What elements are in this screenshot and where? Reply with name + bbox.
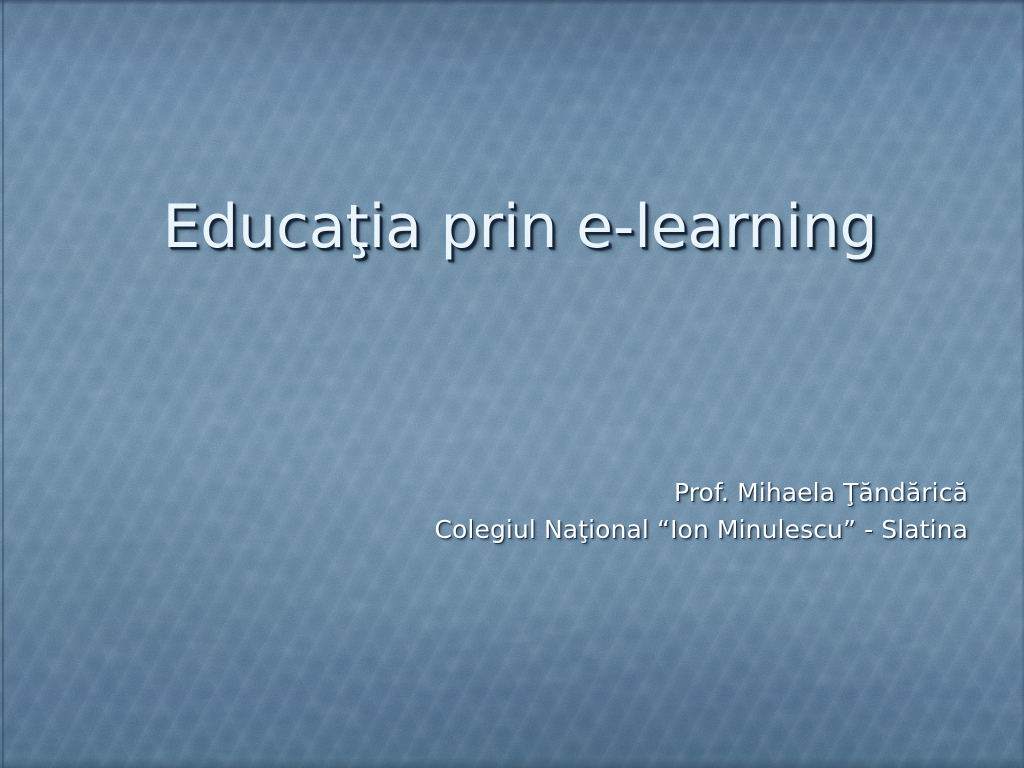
slide-title-placeholder[interactable]: Educaţia prin e-learning — [0, 196, 1024, 259]
slide-edge-bottom — [0, 758, 1024, 768]
slide-subtitle-author: Prof. Mihaela Ţăndărică — [0, 474, 968, 511]
slide-title: Educaţia prin e-learning — [163, 196, 878, 259]
slide-edge-top — [0, 0, 1024, 5]
slide-subtitle-placeholder[interactable]: Prof. Mihaela Ţăndărică Colegiul Naţiona… — [0, 474, 968, 548]
presentation-slide: Educaţia prin e-learning Prof. Mihaela Ţ… — [0, 0, 1024, 768]
slide-edge-left — [2, 0, 4, 768]
slide-background-clouds — [0, 0, 1024, 768]
slide-subtitle-affiliation: Colegiul Naţional “Ion Minulescu” - Slat… — [0, 511, 968, 548]
